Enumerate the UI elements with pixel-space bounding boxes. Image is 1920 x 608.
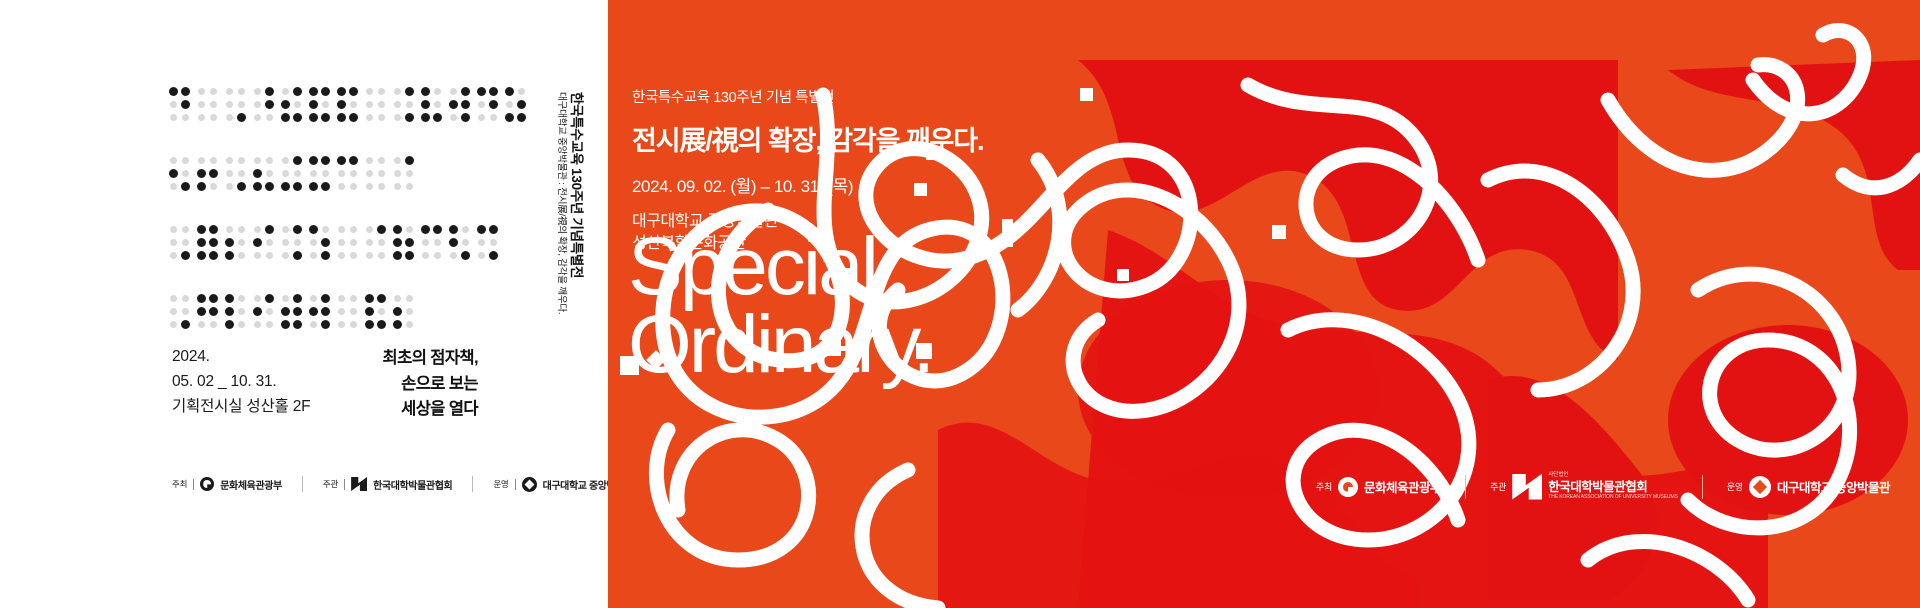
braille-dot <box>266 252 273 259</box>
braille-dot <box>210 88 217 95</box>
braille-dot <box>489 251 498 260</box>
braille-cell <box>198 226 217 265</box>
braille-dot <box>282 295 289 302</box>
braille-dot <box>265 87 274 96</box>
braille-dot <box>170 114 177 121</box>
braille-dot <box>282 88 289 95</box>
braille-dot <box>225 238 234 247</box>
info-dates: 05. 02 _ 10. 31. <box>172 369 310 394</box>
braille-dot <box>406 183 413 190</box>
daegu-icon <box>522 477 537 492</box>
braille-dot <box>406 101 413 108</box>
braille-dot <box>378 308 385 315</box>
braille-dot <box>378 183 385 190</box>
braille-dot <box>226 101 233 108</box>
braille-dot <box>349 87 358 96</box>
info-venue: 기획전시실 성산홀 2F <box>172 394 310 419</box>
braille-dot <box>238 308 245 315</box>
braille-dot <box>170 157 177 164</box>
braille-cell <box>422 88 441 127</box>
braille-dot <box>293 87 302 96</box>
braille-cell <box>366 157 385 196</box>
braille-dot <box>238 101 245 108</box>
braille-row <box>170 88 490 127</box>
braille-dot <box>337 113 346 122</box>
braille-cell <box>198 295 217 334</box>
braille-dot <box>225 307 234 316</box>
braille-dot <box>421 113 430 122</box>
braille-dot <box>197 251 206 260</box>
braille-dot <box>449 225 458 234</box>
braille-dot <box>281 320 290 329</box>
braille-dot <box>254 252 261 259</box>
braille-dot <box>394 170 401 177</box>
braille-cell <box>170 295 189 334</box>
braille-dot <box>294 239 301 246</box>
braille-dot <box>293 320 302 329</box>
braille-dot <box>405 156 414 165</box>
braille-dot <box>310 321 317 328</box>
divider <box>515 479 516 490</box>
braille-dot <box>209 238 218 247</box>
braille-block <box>170 88 490 364</box>
braille-dot <box>226 183 233 190</box>
braille-cell <box>254 157 273 196</box>
braille-cell <box>226 88 245 127</box>
braille-dot <box>209 294 218 303</box>
braille-dot <box>478 114 485 121</box>
left-white-panel: 2024. 05. 02 _ 10. 31. 기획전시실 성산홀 2F 최초의 … <box>0 0 608 608</box>
braille-dot <box>282 226 289 233</box>
braille-dot <box>406 321 413 328</box>
braille-dot <box>170 226 177 233</box>
braille-dot <box>378 114 385 121</box>
braille-cell <box>366 88 385 127</box>
braille-dot <box>226 157 233 164</box>
braille-dot <box>170 183 177 190</box>
braille-dot <box>366 157 373 164</box>
braille-dot <box>505 113 514 122</box>
braille-dot <box>197 225 206 234</box>
braille-dot <box>253 182 262 191</box>
braille-dot <box>310 239 317 246</box>
braille-dot <box>394 88 401 95</box>
braille-cell <box>170 226 189 265</box>
braille-cell <box>478 88 497 127</box>
braille-dot <box>461 87 470 96</box>
braille-dot <box>254 226 261 233</box>
braille-dot <box>238 295 245 302</box>
braille-dot <box>210 321 217 328</box>
braille-dot <box>450 88 457 95</box>
taegeuk-icon <box>200 477 214 491</box>
braille-dot <box>226 226 233 233</box>
braille-dot <box>266 239 273 246</box>
braille-dot <box>393 307 402 316</box>
braille-dot <box>461 113 470 122</box>
kaum-wordmark: 사단법인 한국대학박물관협회 THE KOREAN ASSOCIATION OF… <box>1548 473 1678 500</box>
braille-dot <box>462 239 469 246</box>
braille-dot <box>365 320 374 329</box>
tagline-line-3: 세상을 열다 <box>383 397 478 423</box>
braille-dot <box>170 321 177 328</box>
braille-dot <box>405 251 414 260</box>
braille-dot <box>350 239 357 246</box>
braille-dot <box>350 183 357 190</box>
braille-dot <box>169 169 178 178</box>
braille-dot <box>321 238 330 247</box>
braille-cell <box>394 88 413 127</box>
braille-dot <box>210 114 217 121</box>
braille-dot <box>266 114 273 121</box>
braille-dot <box>321 294 330 303</box>
kaum-icon <box>351 477 367 491</box>
braille-cell <box>198 88 217 127</box>
braille-dot <box>209 169 218 178</box>
braille-dot <box>393 320 402 329</box>
braille-dot <box>366 170 373 177</box>
braille-dot <box>265 294 274 303</box>
sponsor-role-label: 주최 <box>172 478 187 490</box>
braille-dot <box>366 88 373 95</box>
braille-dot <box>378 170 385 177</box>
divider <box>193 479 194 490</box>
braille-dot <box>394 183 401 190</box>
braille-dot <box>434 252 441 259</box>
braille-dot <box>366 183 373 190</box>
braille-dot <box>226 114 233 121</box>
braille-dot <box>393 251 402 260</box>
braille-dot <box>182 114 189 121</box>
braille-dot <box>350 308 357 315</box>
braille-dot <box>461 100 470 109</box>
braille-dot <box>310 170 317 177</box>
braille-dot <box>181 251 190 260</box>
taegeuk-icon <box>1338 477 1358 497</box>
braille-dot <box>449 238 458 247</box>
vertical-title: 한국특수교육 130주년 기념특별전 <box>568 92 588 278</box>
braille-cell <box>282 157 301 196</box>
braille-dot <box>181 182 190 191</box>
braille-cell <box>254 88 273 127</box>
braille-dot <box>225 320 234 329</box>
sponsor-host: 주최 문화체육관광부 <box>172 477 282 492</box>
braille-dot <box>337 156 346 165</box>
sponsor-name: 문화체육관광부 <box>1364 477 1441 496</box>
braille-cell <box>450 226 469 265</box>
braille-dot <box>182 170 189 177</box>
braille-dot <box>517 113 526 122</box>
braille-dot <box>237 113 246 122</box>
braille-dot <box>197 294 206 303</box>
sponsor-role-label: 주관 <box>323 478 338 490</box>
braille-cell <box>338 226 357 265</box>
braille-dot <box>238 321 245 328</box>
braille-dot <box>406 170 413 177</box>
braille-cell <box>394 157 413 196</box>
braille-cell <box>226 157 245 196</box>
braille-dot <box>338 308 345 315</box>
braille-cell <box>310 295 329 334</box>
right-orange-panel: 한국특수교육 130주년 기념 특별전 전시展/視의 확장, 감각을 깨우다. … <box>608 0 1920 608</box>
sponsor-operator: 운영 대구대학교 중앙박물관 <box>1727 476 1890 498</box>
braille-dot <box>293 225 302 234</box>
braille-dot <box>378 239 385 246</box>
braille-dot <box>266 170 273 177</box>
braille-dot <box>198 101 205 108</box>
braille-dot <box>338 252 345 259</box>
vertical-subtitle: 대구대학교 중앙박물관 : 전시展/視의 확장, 감각을 깨우다. <box>556 92 570 314</box>
braille-cell <box>282 88 301 127</box>
braille-dot <box>309 100 318 109</box>
braille-dot <box>378 157 385 164</box>
braille-dot <box>238 88 245 95</box>
divider <box>472 476 473 492</box>
braille-dot <box>322 101 329 108</box>
braille-dot <box>366 252 373 259</box>
sponsor-role-label: 운영 <box>1727 480 1743 493</box>
big-wordmark: Special Ordinary. <box>628 228 932 384</box>
braille-dot <box>433 225 442 234</box>
braille-dot <box>321 87 330 96</box>
braille-dot <box>321 113 330 122</box>
kaum-sup: 사단법인 <box>1548 473 1678 479</box>
braille-dot <box>309 113 318 122</box>
braille-cell <box>310 157 329 196</box>
braille-dot <box>338 170 345 177</box>
braille-dot <box>282 170 289 177</box>
braille-dot <box>238 239 245 246</box>
braille-dot <box>366 239 373 246</box>
braille-dot <box>293 307 302 316</box>
braille-dot <box>197 307 206 316</box>
braille-dot <box>310 252 317 259</box>
braille-dot <box>281 100 290 109</box>
braille-dot <box>422 239 429 246</box>
braille-dot <box>338 183 345 190</box>
braille-cell <box>282 226 301 265</box>
braille-dot <box>266 157 273 164</box>
braille-dot <box>254 321 261 328</box>
braille-dot <box>265 182 274 191</box>
braille-dot <box>225 251 234 260</box>
braille-dot <box>197 169 206 178</box>
exhibition-poster: 2024. 05. 02 _ 10. 31. 기획전시실 성산홀 2F 최초의 … <box>0 0 1920 608</box>
braille-dot <box>309 156 318 165</box>
braille-dot <box>238 170 245 177</box>
braille-dot <box>294 101 301 108</box>
braille-dot <box>349 113 358 122</box>
braille-dot <box>394 114 401 121</box>
braille-dot <box>209 307 218 316</box>
braille-dot <box>490 114 497 121</box>
braille-dot <box>350 295 357 302</box>
daegu-icon <box>1749 476 1771 498</box>
braille-cell <box>310 88 329 127</box>
braille-cell <box>422 226 441 265</box>
braille-dot <box>393 225 402 234</box>
braille-dot <box>406 226 413 233</box>
braille-dot <box>282 239 289 246</box>
braille-dot <box>365 294 374 303</box>
braille-dot <box>293 251 302 260</box>
braille-dot <box>322 226 329 233</box>
braille-dot <box>478 252 485 259</box>
braille-cell <box>366 295 385 334</box>
braille-dot <box>282 157 289 164</box>
braille-dot <box>350 170 357 177</box>
braille-dot <box>321 182 330 191</box>
braille-dot <box>434 101 441 108</box>
braille-dot <box>253 307 262 316</box>
braille-dot <box>338 321 345 328</box>
exhibition-date: 2024. 09. 02. (월) – 10. 31. (목) <box>632 172 983 197</box>
braille-dot <box>265 225 274 234</box>
braille-cell <box>338 295 357 334</box>
braille-dot <box>405 238 414 247</box>
braille-dot <box>393 238 402 247</box>
braille-dot <box>309 307 318 316</box>
braille-cell <box>226 295 245 334</box>
braille-dot <box>181 87 190 96</box>
sponsor-row-right: 주최 문화체육관광부 주관 사단법인 한국대학박물관협회 THE KOREAN … <box>1316 473 1890 500</box>
braille-dot <box>350 226 357 233</box>
braille-dot <box>366 226 373 233</box>
braille-dot <box>366 114 373 121</box>
tagline-line-2: 손으로 보는 <box>383 372 478 398</box>
braille-dot <box>197 238 206 247</box>
braille-dot <box>365 307 374 316</box>
braille-dot <box>254 157 261 164</box>
braille-dot <box>209 225 218 234</box>
braille-dot <box>394 157 401 164</box>
braille-cell <box>338 157 357 196</box>
braille-cell <box>366 226 385 265</box>
braille-cell <box>226 226 245 265</box>
braille-dot <box>266 308 273 315</box>
braille-dot <box>406 308 413 315</box>
braille-dot <box>378 252 385 259</box>
braille-cell <box>198 157 217 196</box>
braille-cell <box>254 295 273 334</box>
sponsor-name: 문화체육관광부 <box>220 477 282 492</box>
braille-dot <box>253 238 262 247</box>
braille-dot <box>489 225 498 234</box>
braille-dot <box>293 182 302 191</box>
braille-dot <box>265 100 274 109</box>
braille-dot <box>405 87 414 96</box>
braille-dot <box>254 114 261 121</box>
braille-dot <box>321 156 330 165</box>
braille-dot <box>282 252 289 259</box>
braille-dot <box>210 183 217 190</box>
braille-dot <box>462 226 469 233</box>
kicker: 한국특수교육 130주년 기념 특별전 <box>632 86 983 107</box>
divider <box>302 476 303 492</box>
braille-dot <box>181 100 190 109</box>
braille-dot <box>349 156 358 165</box>
braille-dot <box>478 239 485 246</box>
braille-dot <box>210 157 217 164</box>
braille-dot <box>490 239 497 246</box>
braille-dot <box>517 100 526 109</box>
braille-dot <box>422 252 429 259</box>
divider <box>1465 475 1466 499</box>
braille-dot <box>281 307 290 316</box>
braille-dot <box>309 87 318 96</box>
braille-dot <box>394 101 401 108</box>
braille-dot <box>489 87 498 96</box>
braille-dot <box>378 101 385 108</box>
braille-dot <box>350 252 357 259</box>
braille-dot <box>377 225 386 234</box>
braille-dot <box>322 170 329 177</box>
kaum-icon <box>1512 474 1542 500</box>
braille-dot <box>170 252 177 259</box>
braille-cell <box>506 88 525 127</box>
braille-dot <box>337 87 346 96</box>
braille-dot <box>350 101 357 108</box>
braille-row <box>170 157 490 196</box>
braille-dot <box>434 239 441 246</box>
braille-dot <box>182 157 189 164</box>
braille-dot <box>350 321 357 328</box>
braille-dot <box>182 308 189 315</box>
braille-dot <box>505 87 514 96</box>
braille-row <box>170 226 490 265</box>
braille-cell <box>282 295 301 334</box>
braille-cell <box>394 295 413 334</box>
braille-dot <box>197 182 206 191</box>
braille-dot <box>338 239 345 246</box>
braille-dot <box>281 182 290 191</box>
braille-dot <box>237 182 246 191</box>
braille-dot <box>338 226 345 233</box>
braille-dot <box>478 101 485 108</box>
braille-dot <box>405 113 414 122</box>
sponsor-role-label: 주관 <box>1490 480 1506 493</box>
braille-cell <box>170 157 189 196</box>
braille-dot <box>182 295 189 302</box>
braille-cell <box>394 226 413 265</box>
sponsor-name: 한국대학박물관협회 <box>1548 481 1678 494</box>
braille-dot <box>450 252 457 259</box>
braille-dot <box>518 88 525 95</box>
braille-dot <box>209 251 218 260</box>
braille-dot <box>421 87 430 96</box>
tagline: 최초의 점자책, 손으로 보는 세상을 열다 <box>383 346 478 423</box>
braille-dot <box>378 88 385 95</box>
braille-dot <box>321 307 330 316</box>
braille-dot <box>309 225 318 234</box>
braille-dot <box>461 251 470 260</box>
braille-dot <box>254 295 261 302</box>
sponsor-organizer: 주관 한국대학박물관협회 <box>323 477 452 492</box>
sponsor-host: 주최 문화체육관광부 <box>1316 477 1441 497</box>
braille-row <box>170 295 490 334</box>
braille-dot <box>433 113 442 122</box>
sponsor-name: 한국대학박물관협회 <box>373 477 452 492</box>
braille-dot <box>421 100 430 109</box>
braille-dot <box>198 321 205 328</box>
braille-dot <box>434 88 441 95</box>
braille-dot <box>338 295 345 302</box>
sponsor-row-left: 주최 문화체육관광부 주관 한국대학박물관협회 운영 대구대학교 중앙박물관 <box>172 476 633 492</box>
braille-dot <box>394 295 401 302</box>
wordmark-line-1: Special <box>628 228 932 306</box>
braille-dot <box>170 308 177 315</box>
braille-dot <box>477 225 486 234</box>
